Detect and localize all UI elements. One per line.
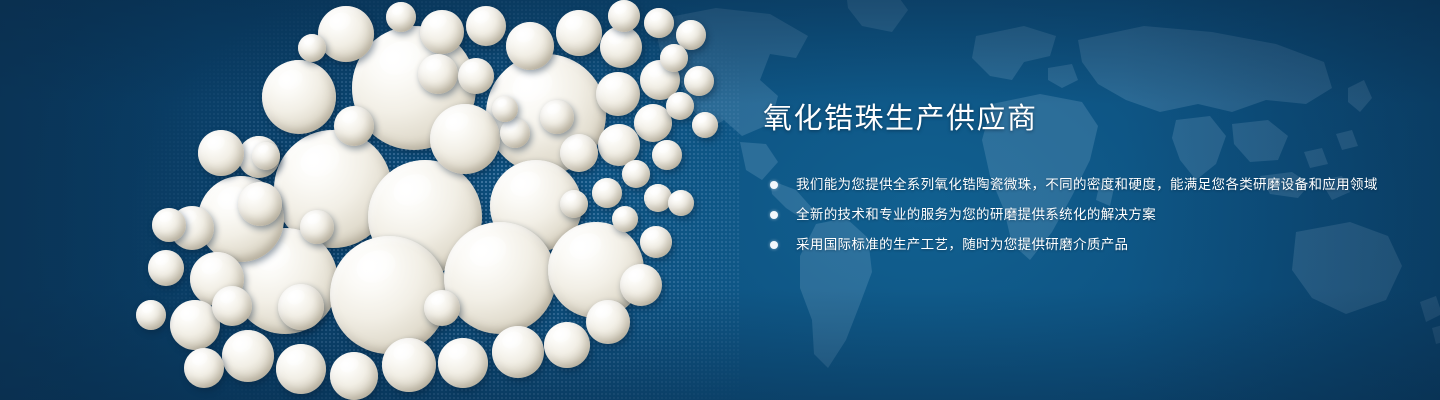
list-item-label: 全新的技术和专业的服务为您的研磨提供系统化的解决方案 [796,207,1156,222]
list-item-label: 采用国际标准的生产工艺，随时为您提供研磨介质产品 [796,237,1128,252]
bullet-dot-icon [770,181,778,189]
bullet-dot-icon [770,241,778,249]
hero-banner: 氧化锆珠生产供应商 我们能为您提供全系列氧化锆陶瓷微珠，不同的密度和硬度，能满足… [0,0,1440,400]
list-item: 采用国际标准的生产工艺，随时为您提供研磨介质产品 [763,234,1383,256]
feature-list: 我们能为您提供全系列氧化锆陶瓷微珠，不同的密度和硬度，能满足您各类研磨设备和应用… [763,174,1383,256]
zirconia-beads-image [0,0,760,400]
bullet-dot-icon [770,211,778,219]
banner-copy: 氧化锆珠生产供应商 我们能为您提供全系列氧化锆陶瓷微珠，不同的密度和硬度，能满足… [763,104,1383,256]
list-item-label: 我们能为您提供全系列氧化锆陶瓷微珠，不同的密度和硬度，能满足您各类研磨设备和应用… [796,177,1378,192]
page-title: 氧化锆珠生产供应商 [763,104,1383,136]
list-item: 我们能为您提供全系列氧化锆陶瓷微珠，不同的密度和硬度，能满足您各类研磨设备和应用… [763,174,1383,196]
list-item: 全新的技术和专业的服务为您的研磨提供系统化的解决方案 [763,204,1383,226]
